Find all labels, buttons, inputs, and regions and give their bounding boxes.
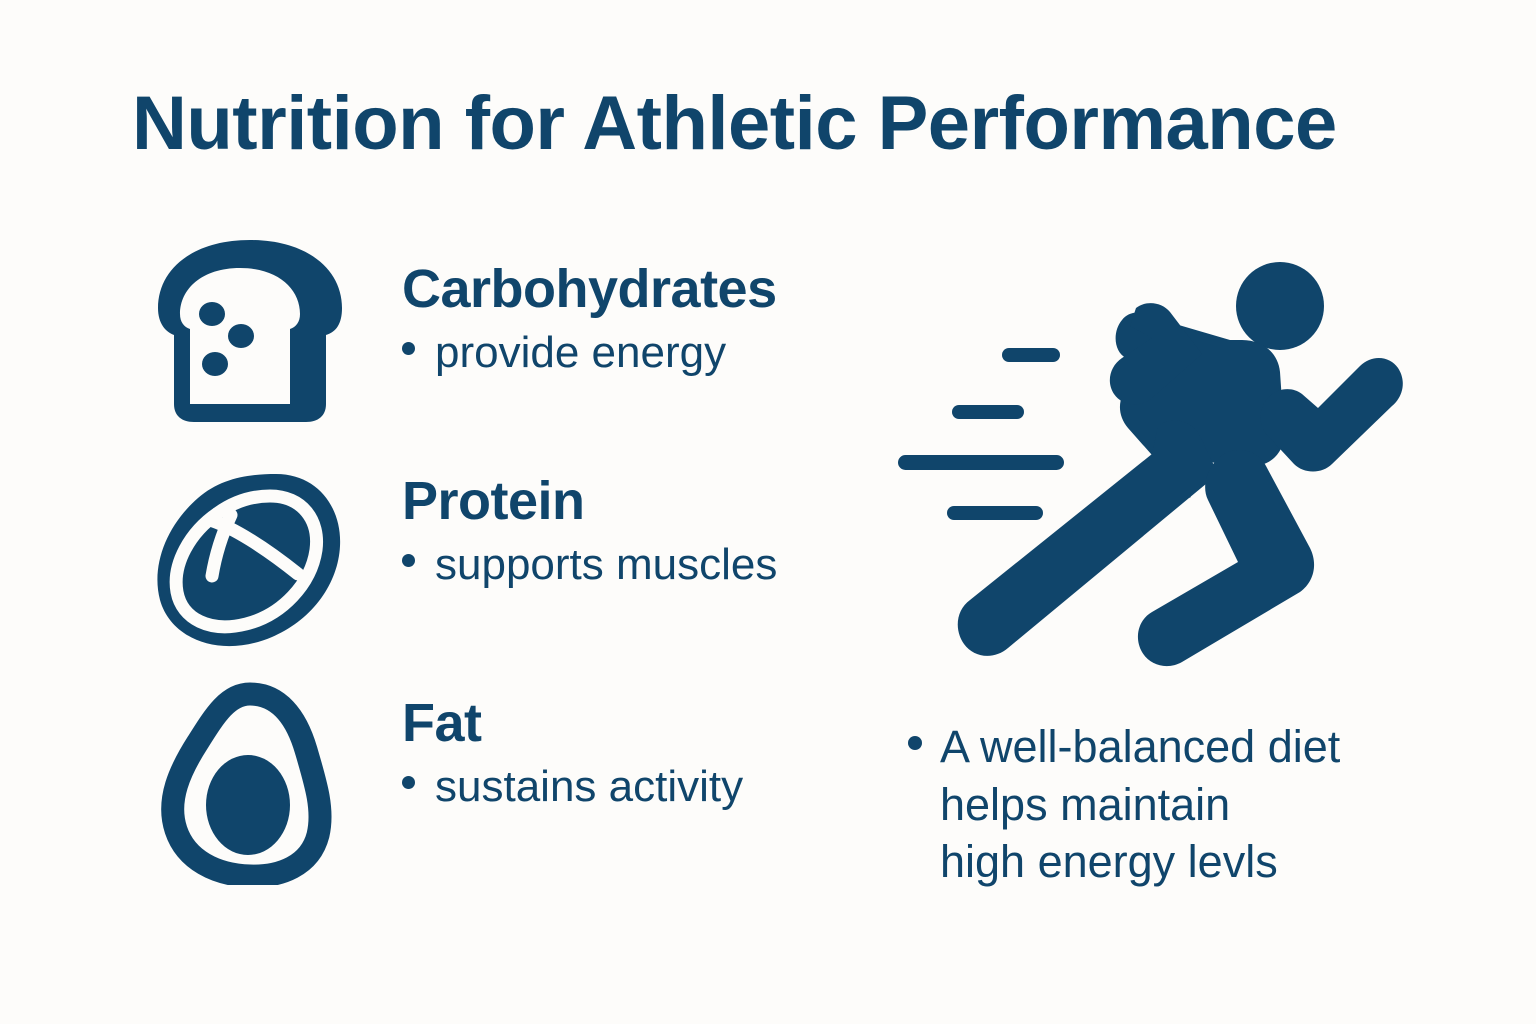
summary-text: A well-balanced diet helps maintain high… — [940, 718, 1340, 891]
nutrient-text-block: Fat sustains activity — [402, 694, 902, 813]
bullet-dot-icon — [908, 736, 922, 750]
nutrient-bullet-label: sustains activity — [435, 762, 743, 813]
summary-line-1: A well-balanced diet — [940, 718, 1340, 776]
speed-line — [952, 405, 1024, 419]
nutrient-row: Protein supports muscles — [140, 458, 900, 680]
speed-line — [947, 506, 1043, 520]
nutrient-bullet-item: supports muscles — [402, 540, 902, 591]
bread-icon — [150, 236, 350, 426]
nutrient-heading: Carbohydrates — [402, 260, 902, 318]
bullet-dot-icon — [402, 554, 415, 567]
summary-line-3: high energy levls — [940, 833, 1340, 891]
nutrient-row: Carbohydrates provide energy — [140, 236, 900, 458]
nutrient-heading: Fat — [402, 694, 902, 752]
nutrient-text-block: Carbohydrates provide energy — [402, 260, 902, 379]
bullet-dot-icon — [402, 342, 415, 355]
nutrient-bullet-item: sustains activity — [402, 762, 902, 813]
speed-line — [1002, 348, 1060, 362]
nutrient-bullet-label: provide energy — [435, 328, 726, 379]
nutrient-row: Fat sustains activity — [140, 680, 900, 902]
page-title: Nutrition for Athletic Performance — [132, 84, 1422, 164]
nutrient-list: Carbohydrates provide energy Protein sup… — [140, 236, 900, 902]
runner-illustration — [890, 248, 1420, 693]
avocado-icon — [158, 680, 338, 885]
summary-bullet: A well-balanced diet helps maintain high… — [908, 718, 1468, 891]
steak-icon — [150, 464, 350, 654]
summary-line-2: helps maintain — [940, 776, 1340, 834]
nutrient-bullet-item: provide energy — [402, 328, 902, 379]
nutrient-bullet-label: supports muscles — [435, 540, 777, 591]
speed-line — [898, 455, 1064, 470]
running-person-icon — [890, 248, 1420, 693]
nutrient-text-block: Protein supports muscles — [402, 472, 902, 591]
nutrient-heading: Protein — [402, 472, 902, 530]
bullet-dot-icon — [402, 776, 415, 789]
infographic-poster: Nutrition for Athletic Performance Carbo… — [0, 0, 1536, 1024]
